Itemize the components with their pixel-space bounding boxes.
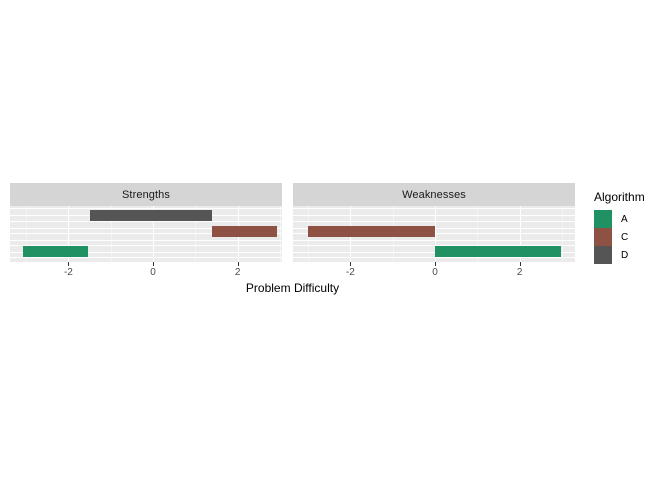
x-tick-label: 2 [517, 267, 523, 278]
gridline-horizontal [293, 208, 575, 209]
x-axis-weaknesses: -202 [293, 262, 575, 266]
gridline-horizontal [10, 240, 282, 241]
legend-title: Algorithm [594, 190, 645, 204]
x-tick-mark [153, 262, 154, 266]
x-tick-label: -2 [64, 267, 73, 278]
legend: Algorithm ACD [594, 190, 645, 264]
x-tick-mark [350, 262, 351, 266]
bar-c [308, 226, 435, 237]
facet-panel-weaknesses: Weaknesses [293, 183, 575, 262]
x-axis-strengths: -202 [10, 262, 282, 266]
x-tick-label: -2 [346, 267, 355, 278]
gridline-horizontal [10, 257, 282, 258]
x-tick-label: 0 [150, 267, 156, 278]
legend-item-label: A [621, 214, 628, 225]
gridline-horizontal [293, 240, 575, 241]
legend-items: ACD [594, 210, 645, 264]
legend-swatch-icon [594, 228, 612, 246]
chart-plot-area: Strengths Weaknesses -202 -202 Problem D… [0, 0, 672, 480]
facet-panel-strengths: Strengths [10, 183, 282, 262]
gridline-horizontal [10, 221, 282, 222]
legend-item-label: D [621, 250, 628, 261]
x-tick-label: 2 [235, 267, 241, 278]
legend-item-label: C [621, 232, 628, 243]
bar-a [23, 246, 88, 257]
legend-item-c[interactable]: C [594, 228, 645, 246]
facet-strip-strengths: Strengths [10, 183, 282, 206]
gridline-horizontal [293, 257, 575, 258]
bar-c [212, 226, 277, 237]
facet-strip-label: Strengths [122, 189, 170, 201]
bar-a [435, 246, 561, 257]
facet-strip-label: Weaknesses [402, 189, 466, 201]
legend-item-d[interactable]: D [594, 246, 645, 264]
x-tick-mark [238, 262, 239, 266]
x-tick-mark [435, 262, 436, 266]
gridline-horizontal [293, 215, 575, 216]
gridline-horizontal [293, 221, 575, 222]
x-tick-mark [68, 262, 69, 266]
legend-item-a[interactable]: A [594, 210, 645, 228]
x-tick-label: 0 [432, 267, 438, 278]
gridline-horizontal [10, 208, 282, 209]
bar-d [90, 210, 212, 221]
x-tick-mark [520, 262, 521, 266]
facet-plot-region-strengths [10, 206, 282, 262]
facet-strip-weaknesses: Weaknesses [293, 183, 575, 206]
x-axis-title: Problem Difficulty [10, 281, 575, 295]
facet-plot-region-weaknesses [293, 206, 575, 262]
legend-swatch-icon [594, 246, 612, 264]
legend-swatch-icon [594, 210, 612, 228]
